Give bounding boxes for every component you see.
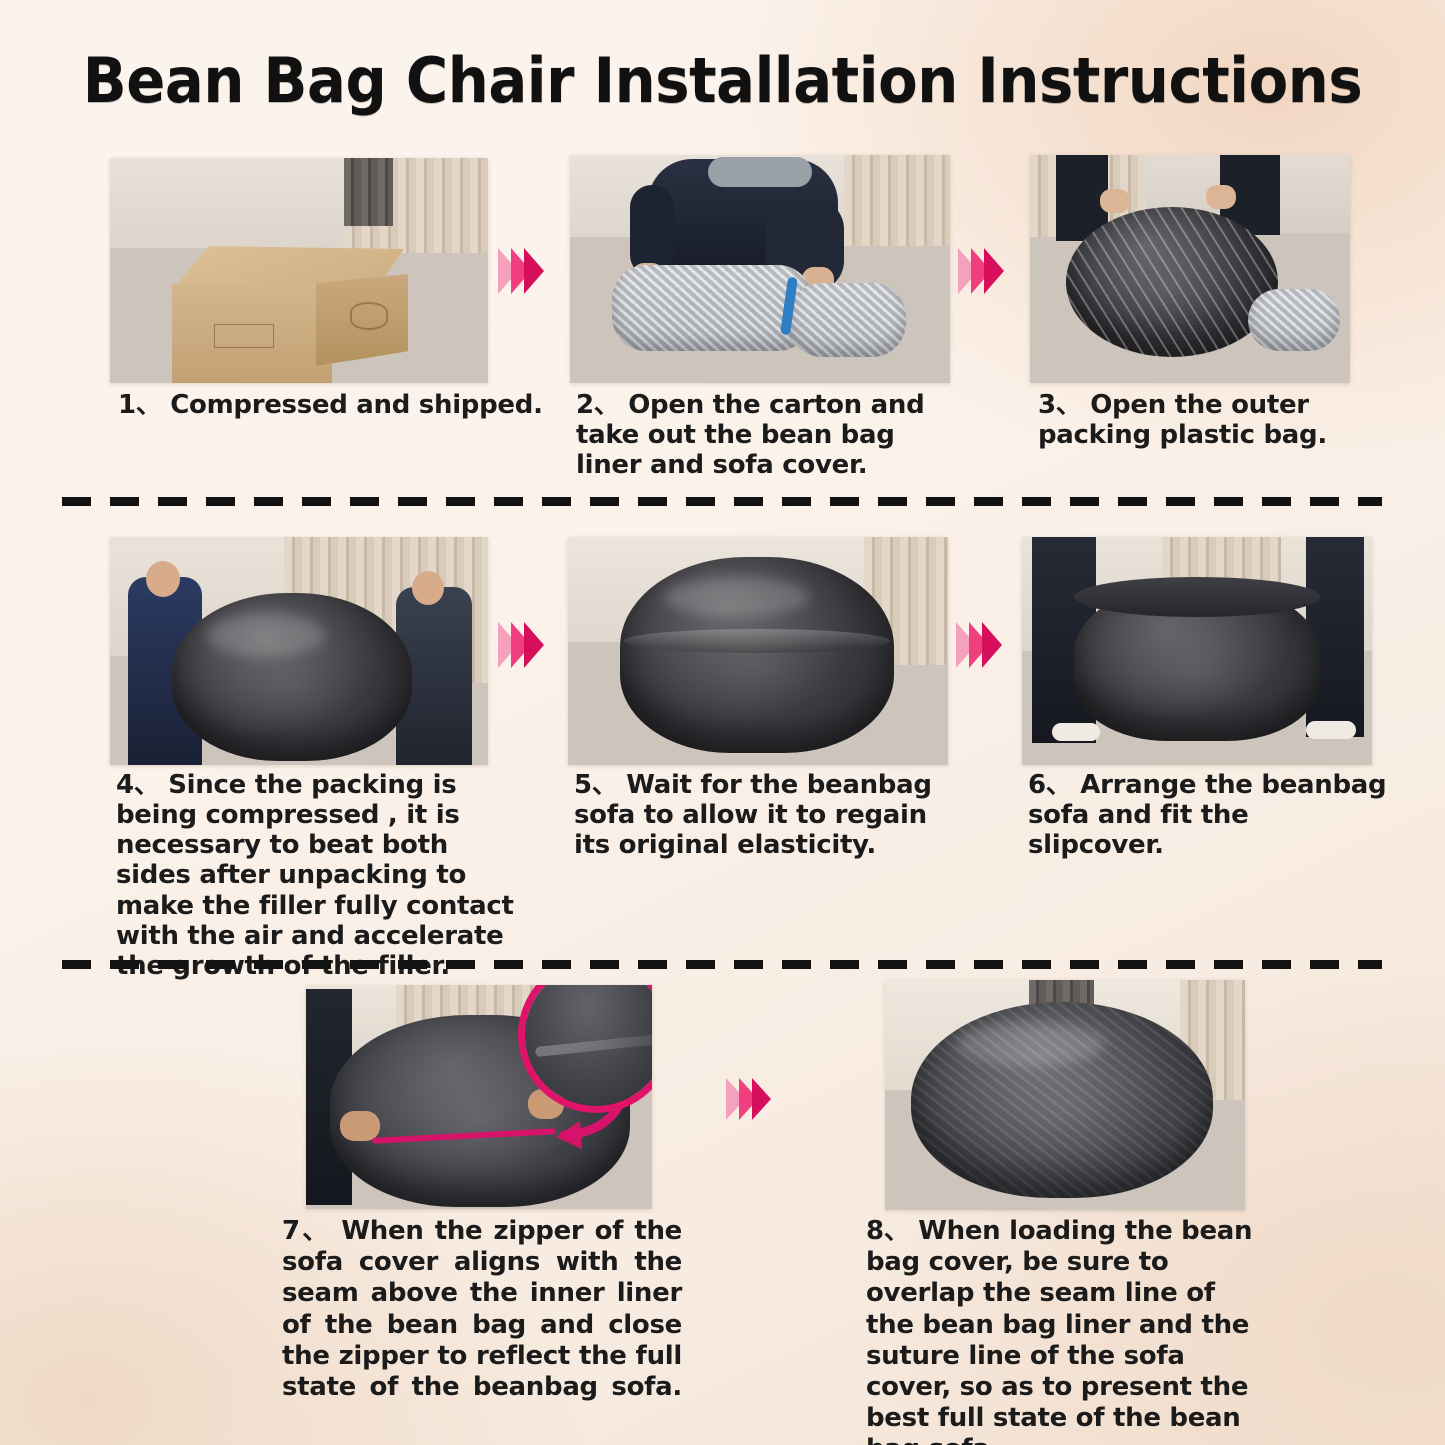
step-5-image <box>568 537 948 765</box>
step-6-image <box>1022 537 1372 765</box>
hand-pulling-right <box>1206 185 1236 209</box>
step-5-caption: 5、 Wait for the beanbag sofa to allow it… <box>574 770 954 860</box>
step-1-image <box>110 158 488 383</box>
divider-row2-row3 <box>62 960 1382 969</box>
step-7-image <box>306 985 652 1209</box>
arrow-step1-to-step2 <box>498 248 544 294</box>
compressed-bag-large <box>612 265 812 351</box>
step-8-caption: 8、 When loading the bean bag cover, be s… <box>866 1216 1256 1445</box>
carton-label <box>214 324 274 348</box>
chevron-icon <box>752 1078 771 1120</box>
chevron-icon <box>984 248 1004 294</box>
step-2-caption: 2、 Open the carton and take out the bean… <box>576 390 958 480</box>
person-left-head <box>146 561 180 597</box>
carton-logo <box>350 302 388 330</box>
chevron-icon <box>982 622 1002 668</box>
scene-curtain-dark <box>344 158 393 226</box>
step-3-caption: 3、 Open the outer packing plastic bag. <box>1038 390 1368 450</box>
shoe-right <box>1306 721 1356 739</box>
sofa-highlight <box>955 1022 1105 1066</box>
arrow-step4-to-step5 <box>498 622 544 668</box>
slipcover-rim <box>1074 577 1320 617</box>
step-4-image <box>110 537 488 765</box>
divider-row1-row2 <box>62 497 1382 506</box>
step-7-caption: 7、 When the zipper of the sofa cover ali… <box>282 1216 682 1434</box>
step-1-caption: 1、 Compressed and shipped. <box>118 390 548 420</box>
step-4-caption: 4、 Since the packing is being compressed… <box>116 770 516 981</box>
step-8-image <box>885 980 1245 1210</box>
person-torso-stripe <box>708 157 812 187</box>
liner-highlight <box>206 613 326 657</box>
compressed-bag-small <box>788 283 906 357</box>
chevron-icon <box>524 248 544 294</box>
shoe-left <box>1052 723 1100 741</box>
step-3-image <box>1030 155 1350 383</box>
page-title: Bean Bag Chair Installation Instructions <box>51 44 1395 117</box>
arrow-step5-to-step6 <box>956 622 1002 668</box>
hand-zipping-left <box>340 1111 380 1141</box>
chevron-icon <box>524 622 544 668</box>
infographic-page: Bean Bag Chair Installation Instructions… <box>0 0 1445 1445</box>
arrow-step2-to-step3 <box>958 248 1004 294</box>
plastic-wrap-sheen <box>1066 207 1278 357</box>
spare-plastic-bag <box>1248 289 1340 351</box>
step-6-caption: 6、 Arrange the beanbag sofa and fit the … <box>1028 770 1388 860</box>
liner-highlight <box>664 577 810 617</box>
hand-pulling-left <box>1100 189 1130 213</box>
person-right-head <box>412 571 444 605</box>
liner-seam <box>624 629 890 653</box>
step-2-image <box>570 155 950 383</box>
arrow-step7-to-step8 <box>726 1078 771 1120</box>
